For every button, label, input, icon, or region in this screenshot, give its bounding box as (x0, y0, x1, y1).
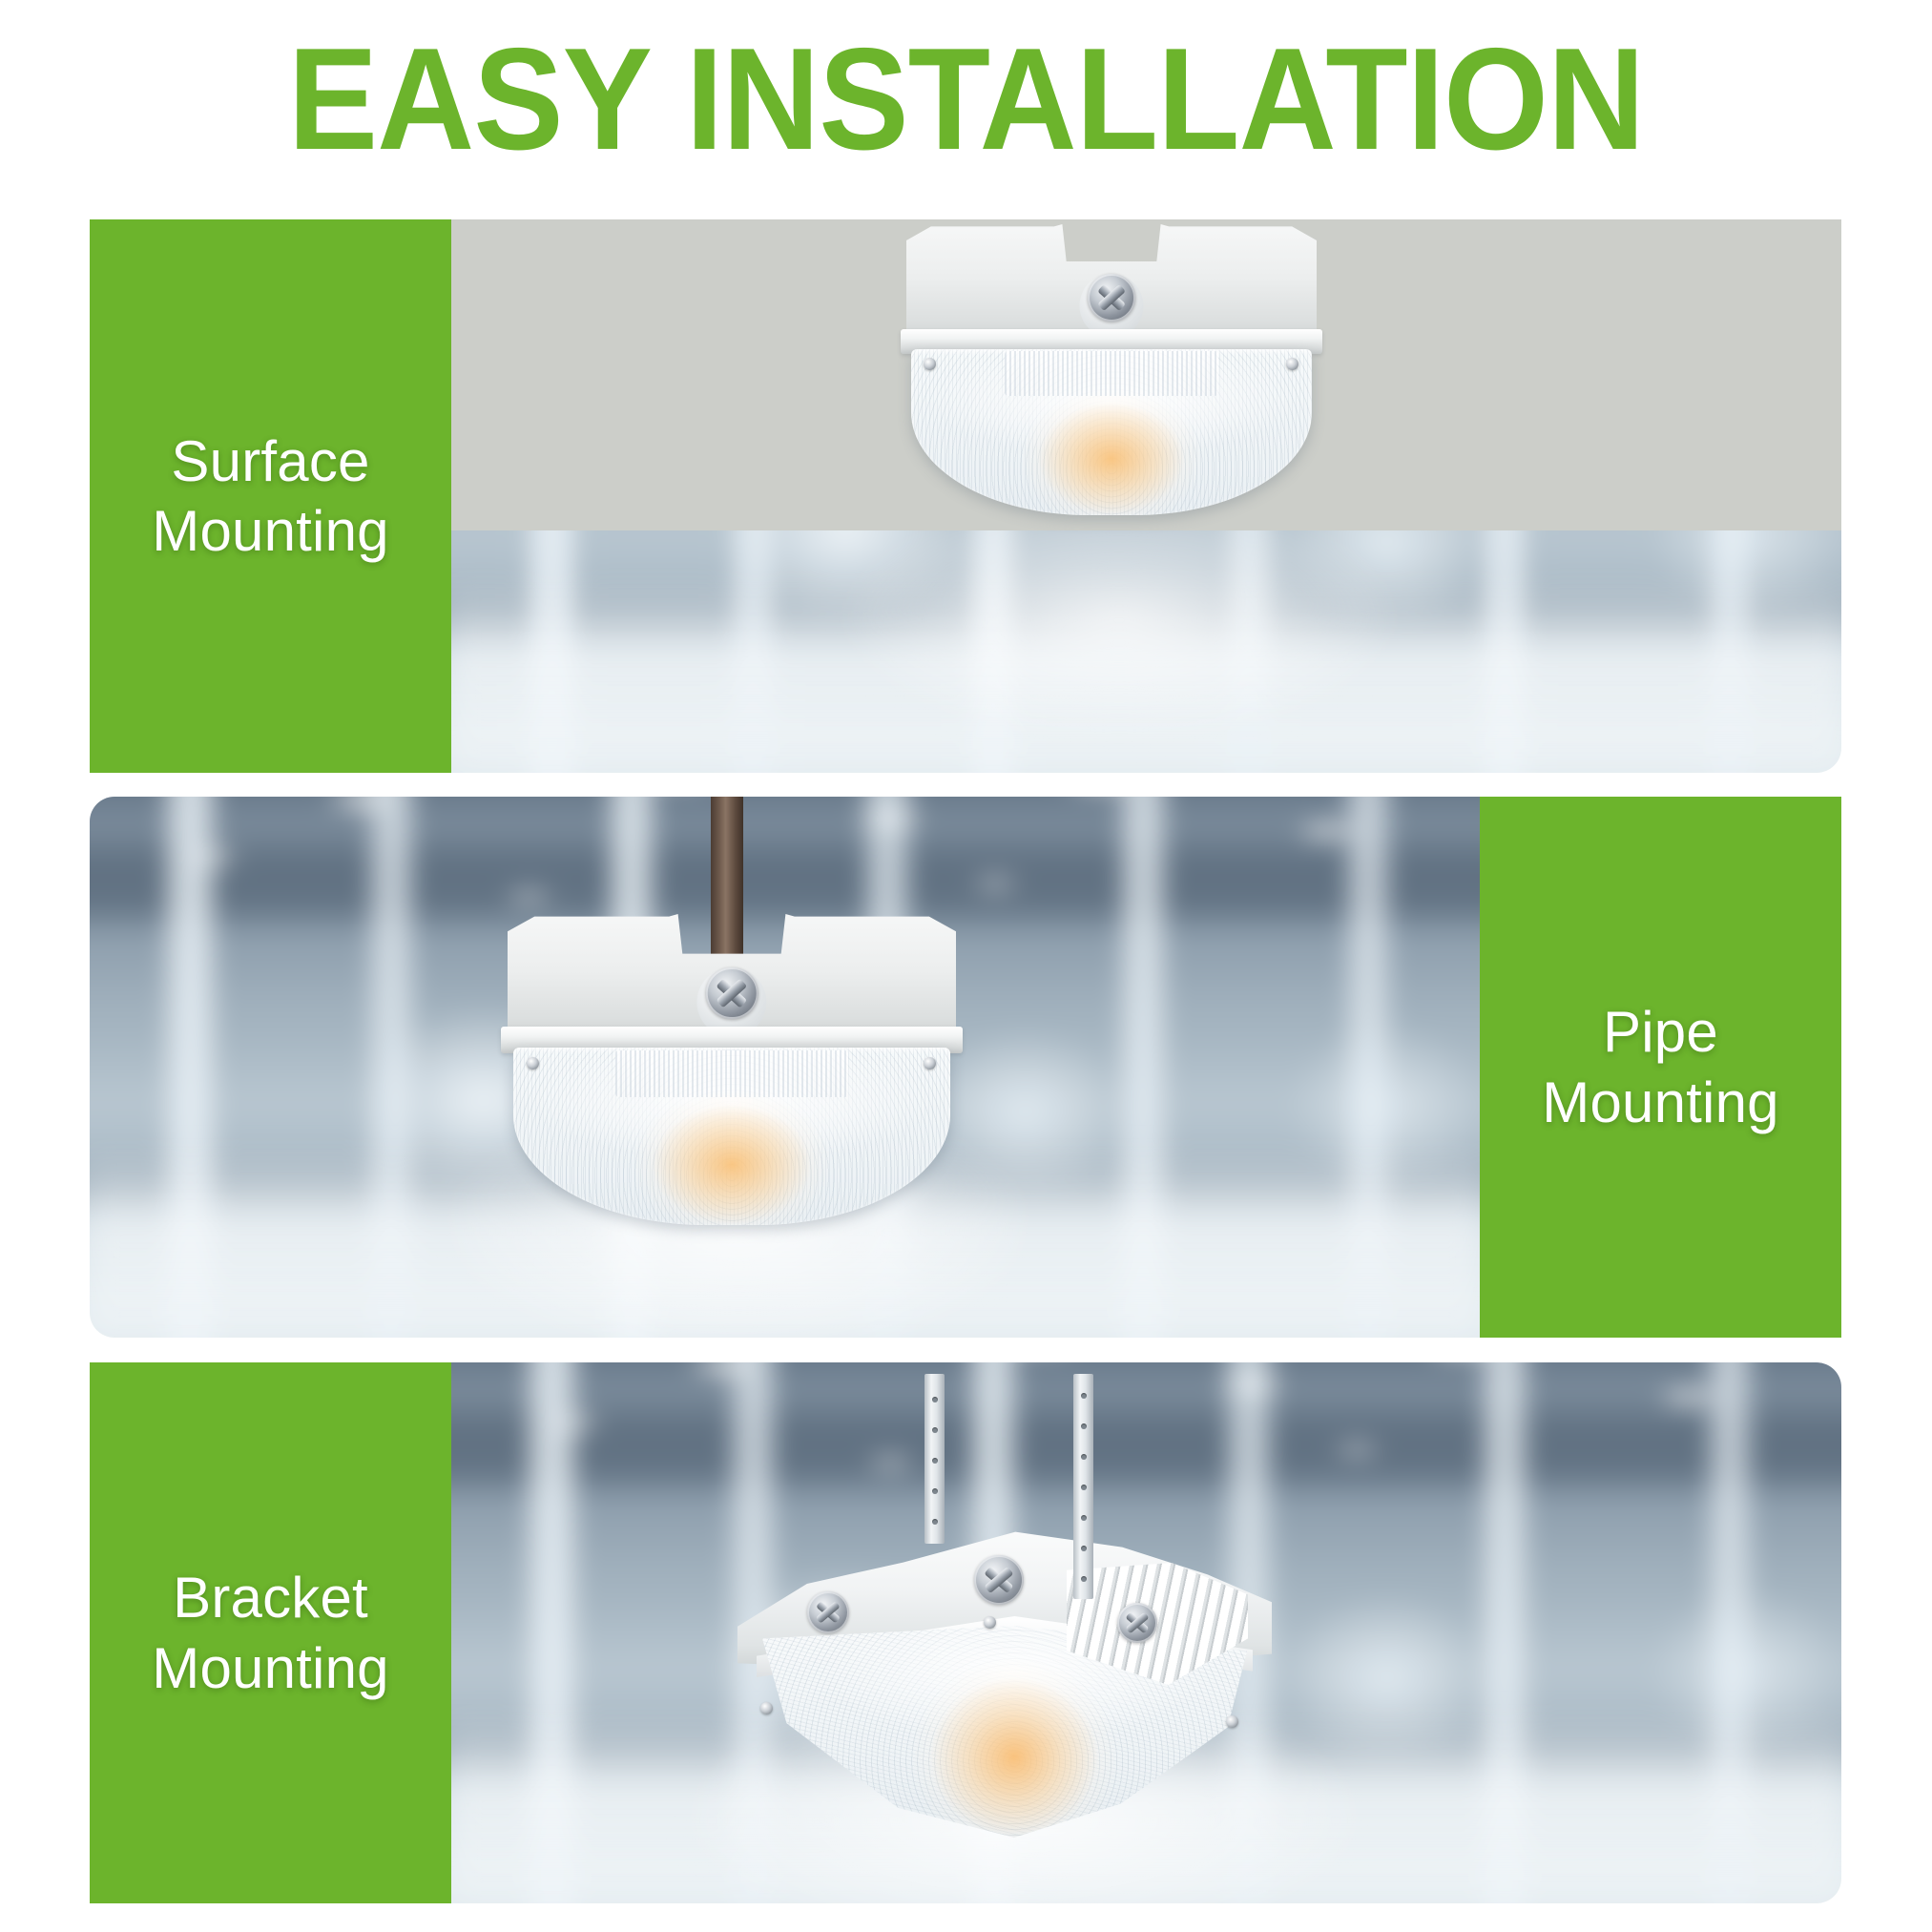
lens-corner-screw (1226, 1715, 1238, 1728)
panel-pipe-mounting-photo (90, 797, 1480, 1338)
lens-corner-screw (760, 1702, 773, 1714)
label-block-bracket-mounting: Bracket Mounting (90, 1362, 451, 1903)
lens-corner-screw (527, 1057, 539, 1070)
panel-label-bracket-mounting: Bracket Mounting (144, 1563, 396, 1702)
panel-surface-mounting-photo (451, 219, 1841, 773)
label-block-pipe-mounting: Pipe Mounting (1480, 797, 1841, 1338)
mounting-knob-icon (1088, 274, 1135, 322)
knockout-plug-icon (974, 1555, 1024, 1605)
lens-corner-screw (924, 358, 936, 370)
canopy-light-fixture (508, 914, 956, 1210)
lens-corner-screw (984, 1616, 996, 1629)
light-glow-pool (852, 506, 1386, 735)
panel-label-pipe-mounting: Pipe Mounting (1534, 997, 1786, 1136)
lens-corner-screw (1286, 358, 1298, 370)
panel-label-surface-mounting: Surface Mounting (144, 426, 396, 566)
knockout-plug-icon (807, 1591, 849, 1633)
canopy-light-fixture (906, 224, 1317, 501)
lens-flute-strip (1005, 351, 1218, 395)
panel-surface-mounting: Surface Mounting (90, 219, 1841, 773)
perforated-bracket-strap (1073, 1374, 1093, 1599)
knockout-plug-icon (1117, 1603, 1157, 1643)
lens-flute-strip (615, 1050, 848, 1098)
mounting-knob-icon (706, 967, 758, 1020)
panel-pipe-mounting: Pipe Mounting (90, 797, 1841, 1338)
perforated-bracket-strap (924, 1374, 945, 1544)
panel-bracket-mounting: Bracket Mounting (90, 1362, 1841, 1903)
label-line-1: Surface (171, 429, 369, 493)
lens-corner-screw (924, 1057, 936, 1070)
page-title: EASY INSTALLATION (68, 27, 1864, 172)
label-line-2: Mounting (1542, 1070, 1778, 1134)
label-line-1: Pipe (1603, 1000, 1718, 1064)
label-line-2: Mounting (152, 499, 388, 563)
panel-bracket-mounting-photo (451, 1362, 1841, 1903)
infographic-page: EASY INSTALLATION Surface Mounting (0, 0, 1932, 1932)
canopy-light-fixture-angled (737, 1429, 1272, 1839)
label-line-2: Mounting (152, 1636, 388, 1700)
label-block-surface-mounting: Surface Mounting (90, 219, 451, 773)
label-line-1: Bracket (173, 1566, 368, 1630)
